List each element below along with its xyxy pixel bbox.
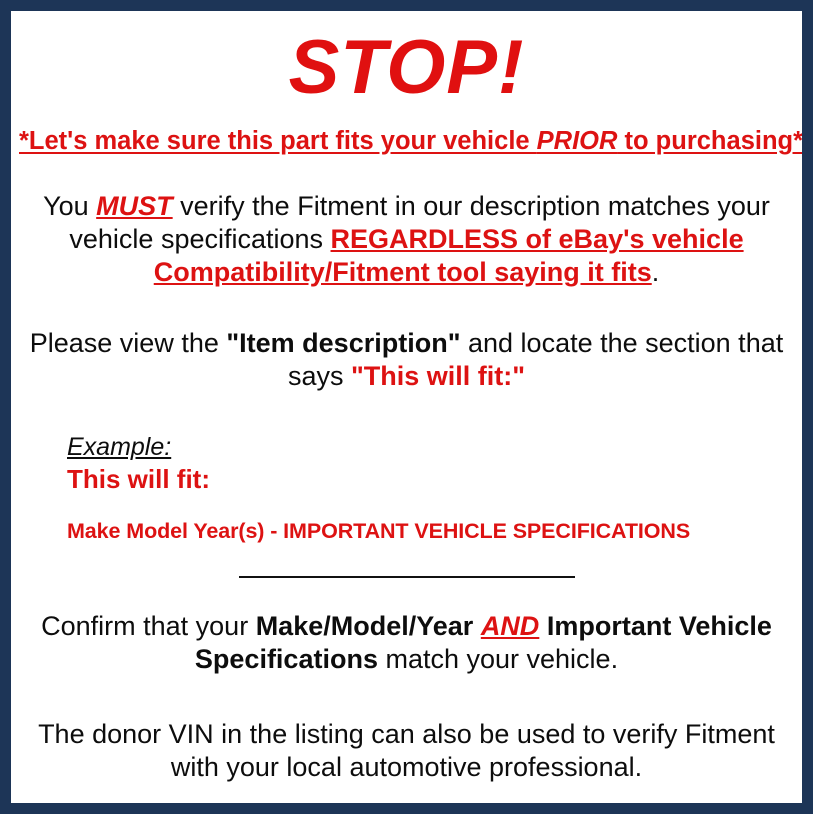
example-block: Example: This will fit: Make Model Year(… <box>19 433 794 544</box>
fitment-notice-card: STOP! *Let's make sure this part fits yo… <box>0 0 813 814</box>
confirm-make-model-year: Make/Model/Year <box>256 611 474 641</box>
confirm-space-1 <box>473 611 481 641</box>
this-will-fit-quote: "This will fit:" <box>351 361 525 391</box>
verify-fitment-paragraph: You MUST verify the Fitment in our descr… <box>19 190 794 289</box>
confirm-text-after: match your vehicle. <box>378 644 618 674</box>
page-title: STOP! <box>19 11 794 111</box>
subtitle-banner: *Let's make sure this part fits your veh… <box>19 125 794 157</box>
example-label: Example: <box>67 433 171 462</box>
section-divider <box>19 568 794 586</box>
must-text-after: . <box>652 257 660 287</box>
thank-you-message: Thank you for confirming Fitment! <box>19 808 794 814</box>
must-emphasis: MUST <box>96 191 173 221</box>
divider-rule <box>239 576 575 578</box>
item-description-paragraph: Please view the "Item description" and l… <box>19 327 794 393</box>
item-description-strong: "Item description" <box>226 328 460 358</box>
notice-content: STOP! *Let's make sure this part fits yo… <box>11 11 802 814</box>
itemdesc-text-before: Please view the <box>30 328 227 358</box>
must-text-before: You <box>43 191 96 221</box>
confirm-text-before: Confirm that your <box>41 611 256 641</box>
donor-vin-paragraph: The donor VIN in the listing can also be… <box>19 718 794 784</box>
example-vehicle-spec-line: Make Model Year(s) - IMPORTANT VEHICLE S… <box>67 518 794 544</box>
subtitle-prefix: *Let's make sure this part fits your veh… <box>19 127 537 155</box>
example-this-will-fit: This will fit: <box>67 464 794 494</box>
subtitle-emphasis-prior: PRIOR <box>537 127 618 155</box>
confirm-and-emphasis: AND <box>481 611 540 641</box>
confirm-paragraph: Confirm that your Make/Model/Year AND Im… <box>19 610 794 676</box>
subtitle-suffix: to purchasing* <box>617 127 803 155</box>
example-label-row: Example: <box>67 433 794 462</box>
confirm-space-2 <box>539 611 547 641</box>
